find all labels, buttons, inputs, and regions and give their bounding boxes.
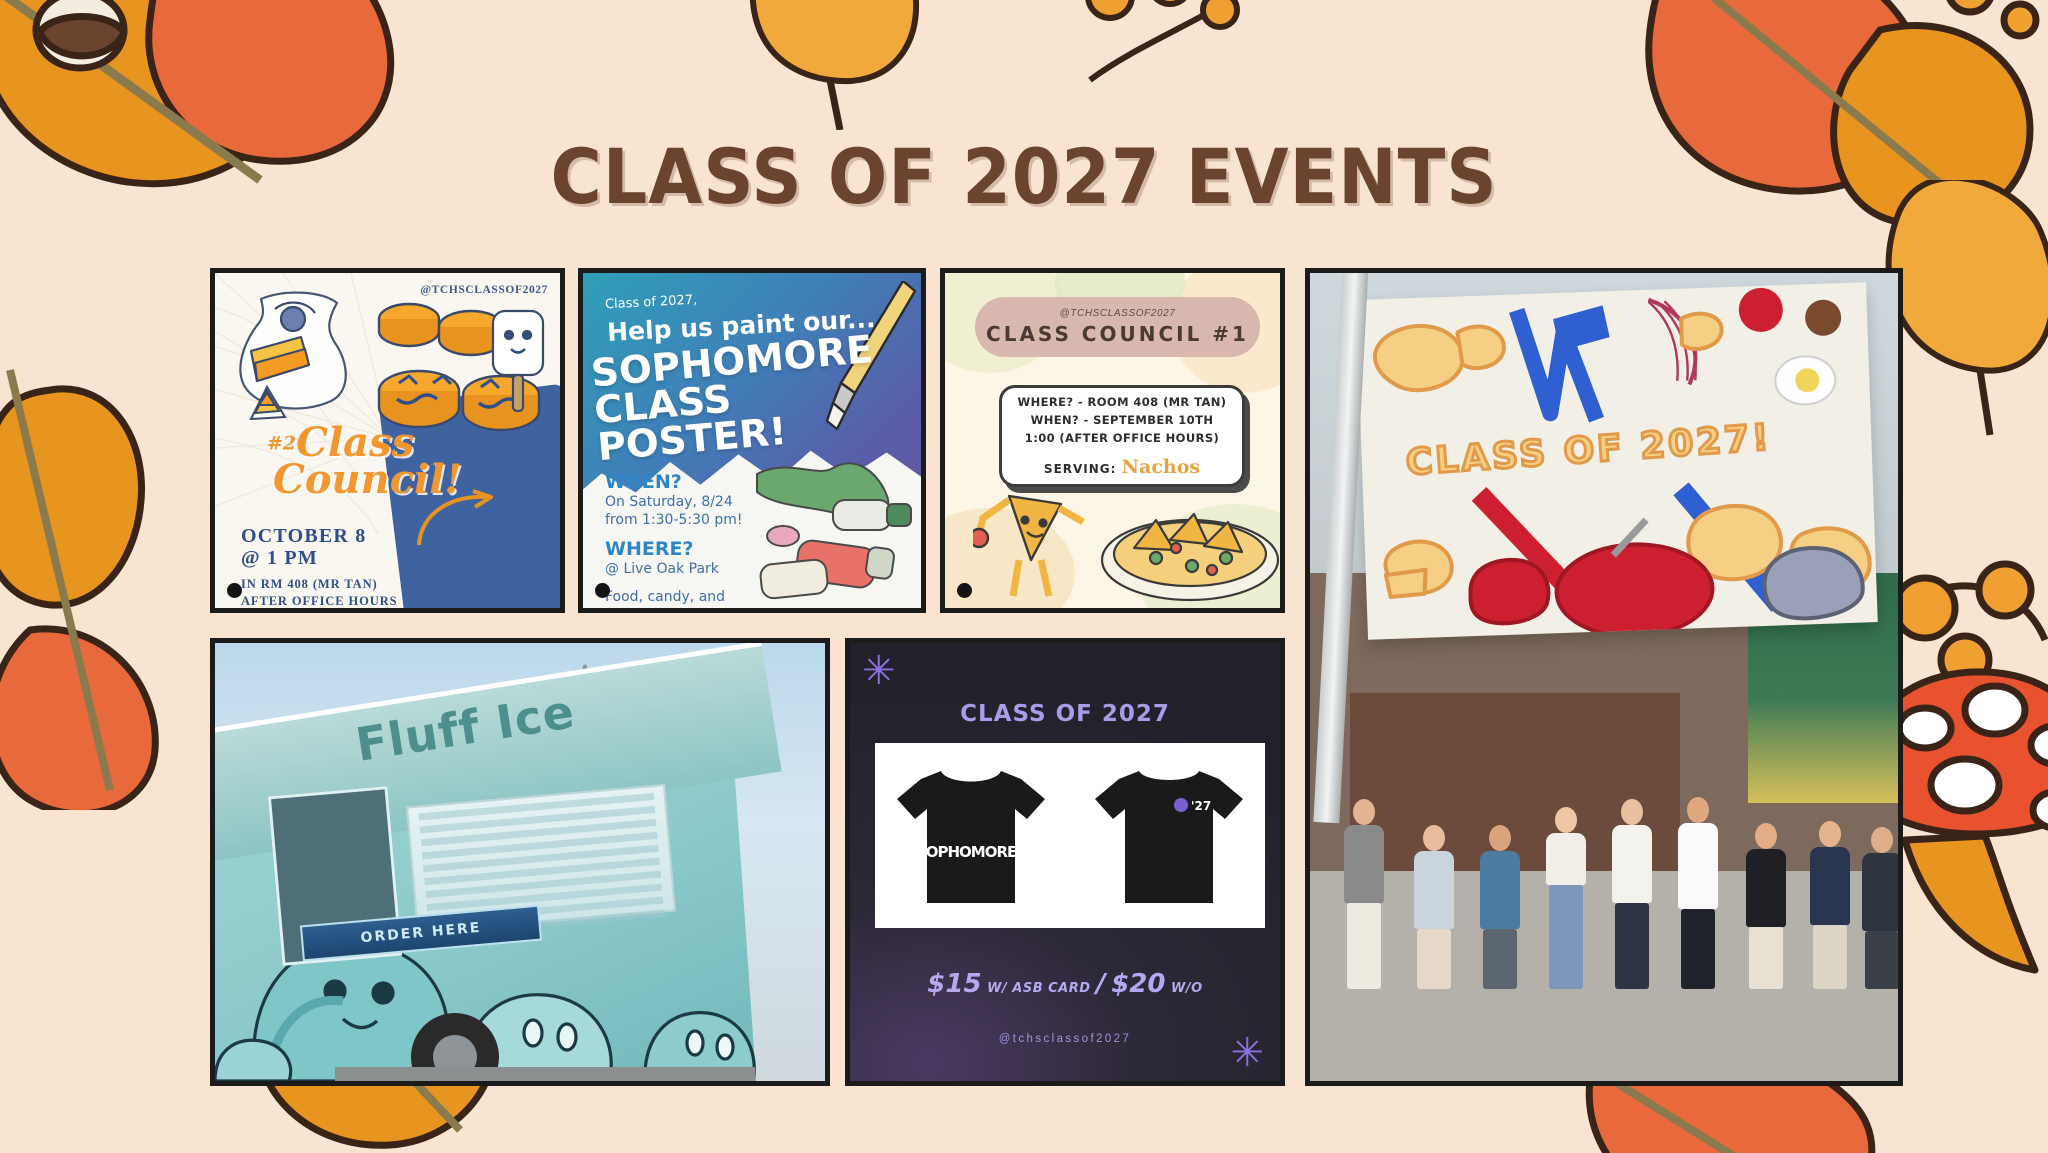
truck-wheels-graphic <box>335 971 755 1086</box>
tshirt-price-secondary-note: W/O <box>1171 981 1203 996</box>
poster3-header-pill: @TCHSCLASSOF2027 CLASS COUNCIL #1 <box>975 297 1260 357</box>
poster2-where-label: WHERE? <box>605 538 746 560</box>
poster1-date: OCTOBER 8 <box>241 525 366 547</box>
tshirt-price-secondary: $20 <box>1111 969 1165 999</box>
poster-class-council-2[interactable]: @TCHSCLASSOF2027 #2Class Council! OCTOBE… <box>210 268 565 613</box>
nacho-mascot-graphic <box>973 474 1093 602</box>
poster3-heading: CLASS COUNCIL #1 <box>986 322 1249 346</box>
photo-class-banner-group[interactable]: CLASS OF 2027! <box>1305 268 1903 1086</box>
poster1-handle: @TCHSCLASSOF2027 <box>420 284 548 296</box>
person-4 <box>1546 807 1586 989</box>
tshirt-pricing: $15 W/ ASB CARD / $20 W/O <box>850 969 1280 999</box>
person-1 <box>1344 799 1384 989</box>
asterisk-icon-topleft: ✳ <box>862 651 896 691</box>
poster1-datetime: OCTOBER 8 @ 1 PM <box>241 526 366 569</box>
paint-tubes-graphic <box>737 452 917 602</box>
poster1-time: @ 1 PM <box>241 547 318 569</box>
poster1-note: AFTER OFFICE HOURS <box>241 594 398 608</box>
poster2-footer-line2: drinks are provided! <box>605 606 746 613</box>
person-6 <box>1678 797 1718 989</box>
poster1-title: #2Class Council! <box>267 425 462 499</box>
poster3-time: 1:00 (AFTER OFFICE HOURS) <box>1025 430 1219 448</box>
poster2-when-label: WHEN? <box>605 471 746 493</box>
person-5 <box>1612 799 1652 989</box>
poster1-room: IN RM 408 (MR TAN) <box>241 577 378 591</box>
poster1-location: IN RM 408 (MR TAN) AFTER OFFICE HOURS <box>241 576 398 609</box>
poster2-corner-badge <box>595 583 610 598</box>
poster3-when: WHEN? - SEPTEMBER 10TH <box>1031 412 1214 430</box>
person-7 <box>1746 823 1786 989</box>
svg-text:SOPHOMORES: SOPHOMORES <box>916 843 1026 861</box>
person-3 <box>1480 825 1520 989</box>
painted-banner-sheet: CLASS OF 2027! <box>1356 282 1878 640</box>
nacho-plate-graphic <box>1094 474 1284 604</box>
oak-leaf-decoration-left <box>0 330 230 810</box>
tshirt-heading: CLASS OF 2027 <box>850 701 1280 727</box>
poster2-where-block: WHERE? @ Live Oak Park <box>605 538 746 578</box>
poster3-corner-badge <box>957 583 972 598</box>
poster1-number: #2 <box>267 433 296 455</box>
poster2-when-line1: On Saturday, 8/24 <box>605 493 746 511</box>
order-here-text: ORDER HERE <box>360 920 482 946</box>
tshirt-back-graphic: '27 <box>1089 761 1249 911</box>
poster2-details: WHEN? On Saturday, 8/24 from 1:30-5:30 p… <box>605 471 746 613</box>
poster2-where-line1: @ Live Oak Park <box>605 560 746 578</box>
poster3-where: WHERE? - ROOM 408 (MR TAN) <box>1018 394 1227 412</box>
truck-menu-board <box>406 784 676 934</box>
poster2-when-line2: from 1:30-5:30 pm! <box>605 511 746 529</box>
person-9 <box>1862 827 1902 989</box>
person-8 <box>1810 821 1850 989</box>
tshirt-handle: @tchsclassof2027 <box>850 1033 1280 1045</box>
poster-sophomore-class-poster[interactable]: Class of 2027, Help us paint our... SOPH… <box>578 268 926 613</box>
person-2 <box>1414 825 1454 989</box>
tshirt-price-primary: $15 <box>927 969 981 999</box>
berry-sprig-decoration-top <box>1070 0 1270 110</box>
curved-arrow-icon <box>411 489 497 549</box>
ghost-popsicle-graphic <box>483 307 557 417</box>
photo-fluff-ice-truck[interactable]: Fluff Ice ORDER HERE <box>210 638 830 1086</box>
poster-canvas: CLASS OF 2027 EVENTS <box>0 0 2048 1153</box>
tshirt-front-graphic: SOPHOMORES <box>891 761 1051 911</box>
ginkgo-leaf-decoration-top <box>720 0 980 130</box>
poster1-corner-badge <box>227 583 242 598</box>
poster3-info-box: WHERE? - ROOM 408 (MR TAN) WHEN? - SEPTE… <box>999 385 1245 487</box>
poster2-when-block: WHEN? On Saturday, 8/24 from 1:30-5:30 p… <box>605 471 746 529</box>
tshirt-price-separator: / <box>1096 969 1106 999</box>
page-title: CLASS OF 2027 EVENTS <box>82 132 1966 221</box>
tshirt-price-primary-note: W/ ASB CARD <box>987 981 1090 996</box>
poster-tshirt-sale[interactable]: ✳ ✳ CLASS OF 2027 SOPHOMORES '27 $15 W/ … <box>845 638 1285 1086</box>
tshirt-photo-area: SOPHOMORES '27 <box>875 743 1265 928</box>
poster2-footer-line1: Food, candy, and <box>605 588 746 606</box>
poster-class-council-1[interactable]: @TCHSCLASSOF2027 CLASS COUNCIL #1 WHERE?… <box>940 268 1285 613</box>
svg-text:'27: '27 <box>1191 799 1211 813</box>
poster3-handle: @TCHSCLASSOF2027 <box>1060 308 1176 319</box>
poster2-footer-block: Food, candy, and drinks are provided! <box>605 588 746 613</box>
